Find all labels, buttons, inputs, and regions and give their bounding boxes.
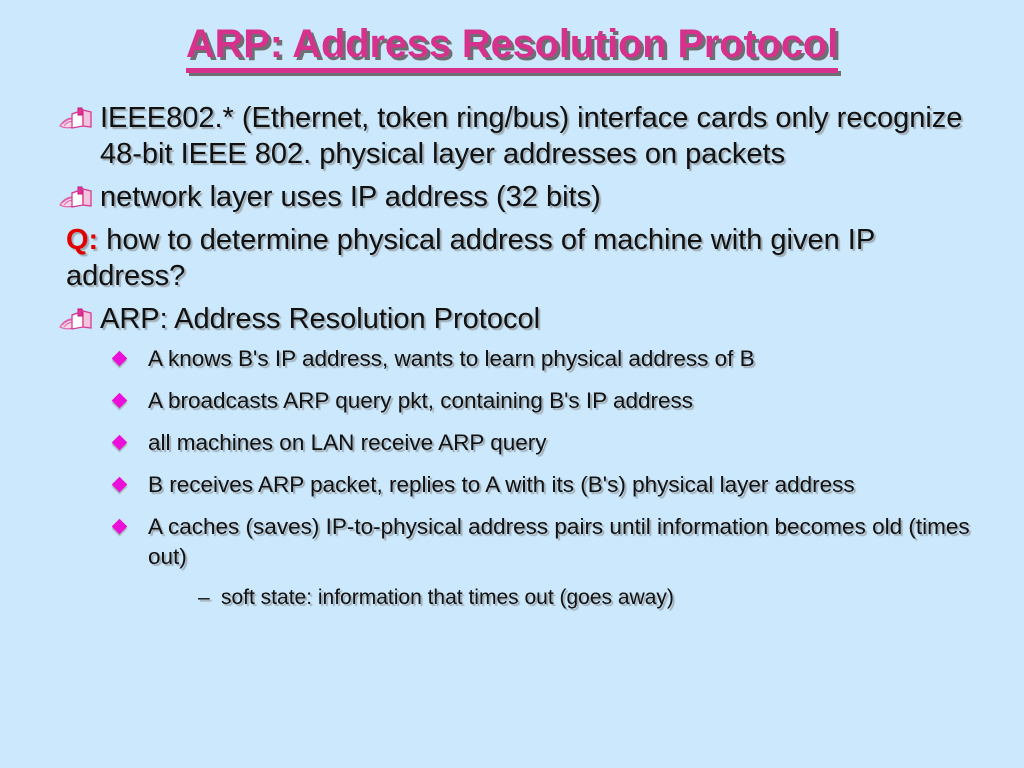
sub-bullet-text: all machines on LAN receive ARP query <box>148 430 547 455</box>
diamond-bullet-icon <box>112 477 128 493</box>
sub-bullet-text: A broadcasts ARP query pkt, containing B… <box>148 388 693 413</box>
diamond-bullet-icon <box>112 393 128 409</box>
diamond-bullet-icon <box>112 351 128 367</box>
sub-bullet-text: A caches (saves) IP-to-physical address … <box>148 514 970 569</box>
page-title: ARP: Address Resolution Protocol <box>0 22 1024 71</box>
bullet-item: network layer uses IP address (32 bits) <box>58 179 998 215</box>
bullet-text: ARP: Address Resolution Protocol <box>100 303 540 335</box>
bullet-text: network layer uses IP address (32 bits) <box>100 181 601 213</box>
en-dash-bullet-icon: – <box>198 584 210 612</box>
sub-bullet-item: B receives ARP packet, replies to A with… <box>58 470 998 500</box>
slide-body: IEEE802.* (Ethernet, token ring/bus) int… <box>58 100 998 612</box>
question-text: how to determine physical address of mac… <box>66 224 875 292</box>
question-item: Q: how to determine physical address of … <box>58 222 976 294</box>
slide-canvas: ARP: Address Resolution Protocol IEEE802… <box>0 0 1024 768</box>
sub-bullet-item: all machines on LAN receive ARP query <box>58 428 998 458</box>
question-label: Q: <box>66 224 98 256</box>
diamond-bullet-icon <box>112 519 128 535</box>
bullet-text: IEEE802.* (Ethernet, token ring/bus) int… <box>100 102 962 170</box>
sub-bullet-text: B receives ARP packet, replies to A with… <box>148 472 855 497</box>
diamond-bullet-icon <box>112 435 128 451</box>
mailbox-icon <box>58 306 96 332</box>
bullet-item: ARP: Address Resolution Protocol <box>58 301 998 337</box>
sub-bullet-text: A knows B's IP address, wants to learn p… <box>148 346 755 371</box>
mailbox-icon <box>58 184 96 210</box>
sub-bullet-item: A caches (saves) IP-to-physical address … <box>58 512 998 572</box>
sub-sub-bullet-item: – soft state: information that times out… <box>58 584 998 612</box>
sub-sub-bullet-text: soft state: information that times out (… <box>221 586 674 609</box>
sub-bullet-item: A broadcasts ARP query pkt, containing B… <box>58 386 998 416</box>
page-title-text: ARP: Address Resolution Protocol <box>186 22 838 71</box>
mailbox-icon <box>58 105 96 131</box>
bullet-item: IEEE802.* (Ethernet, token ring/bus) int… <box>58 100 998 172</box>
sub-bullet-item: A knows B's IP address, wants to learn p… <box>58 344 998 374</box>
